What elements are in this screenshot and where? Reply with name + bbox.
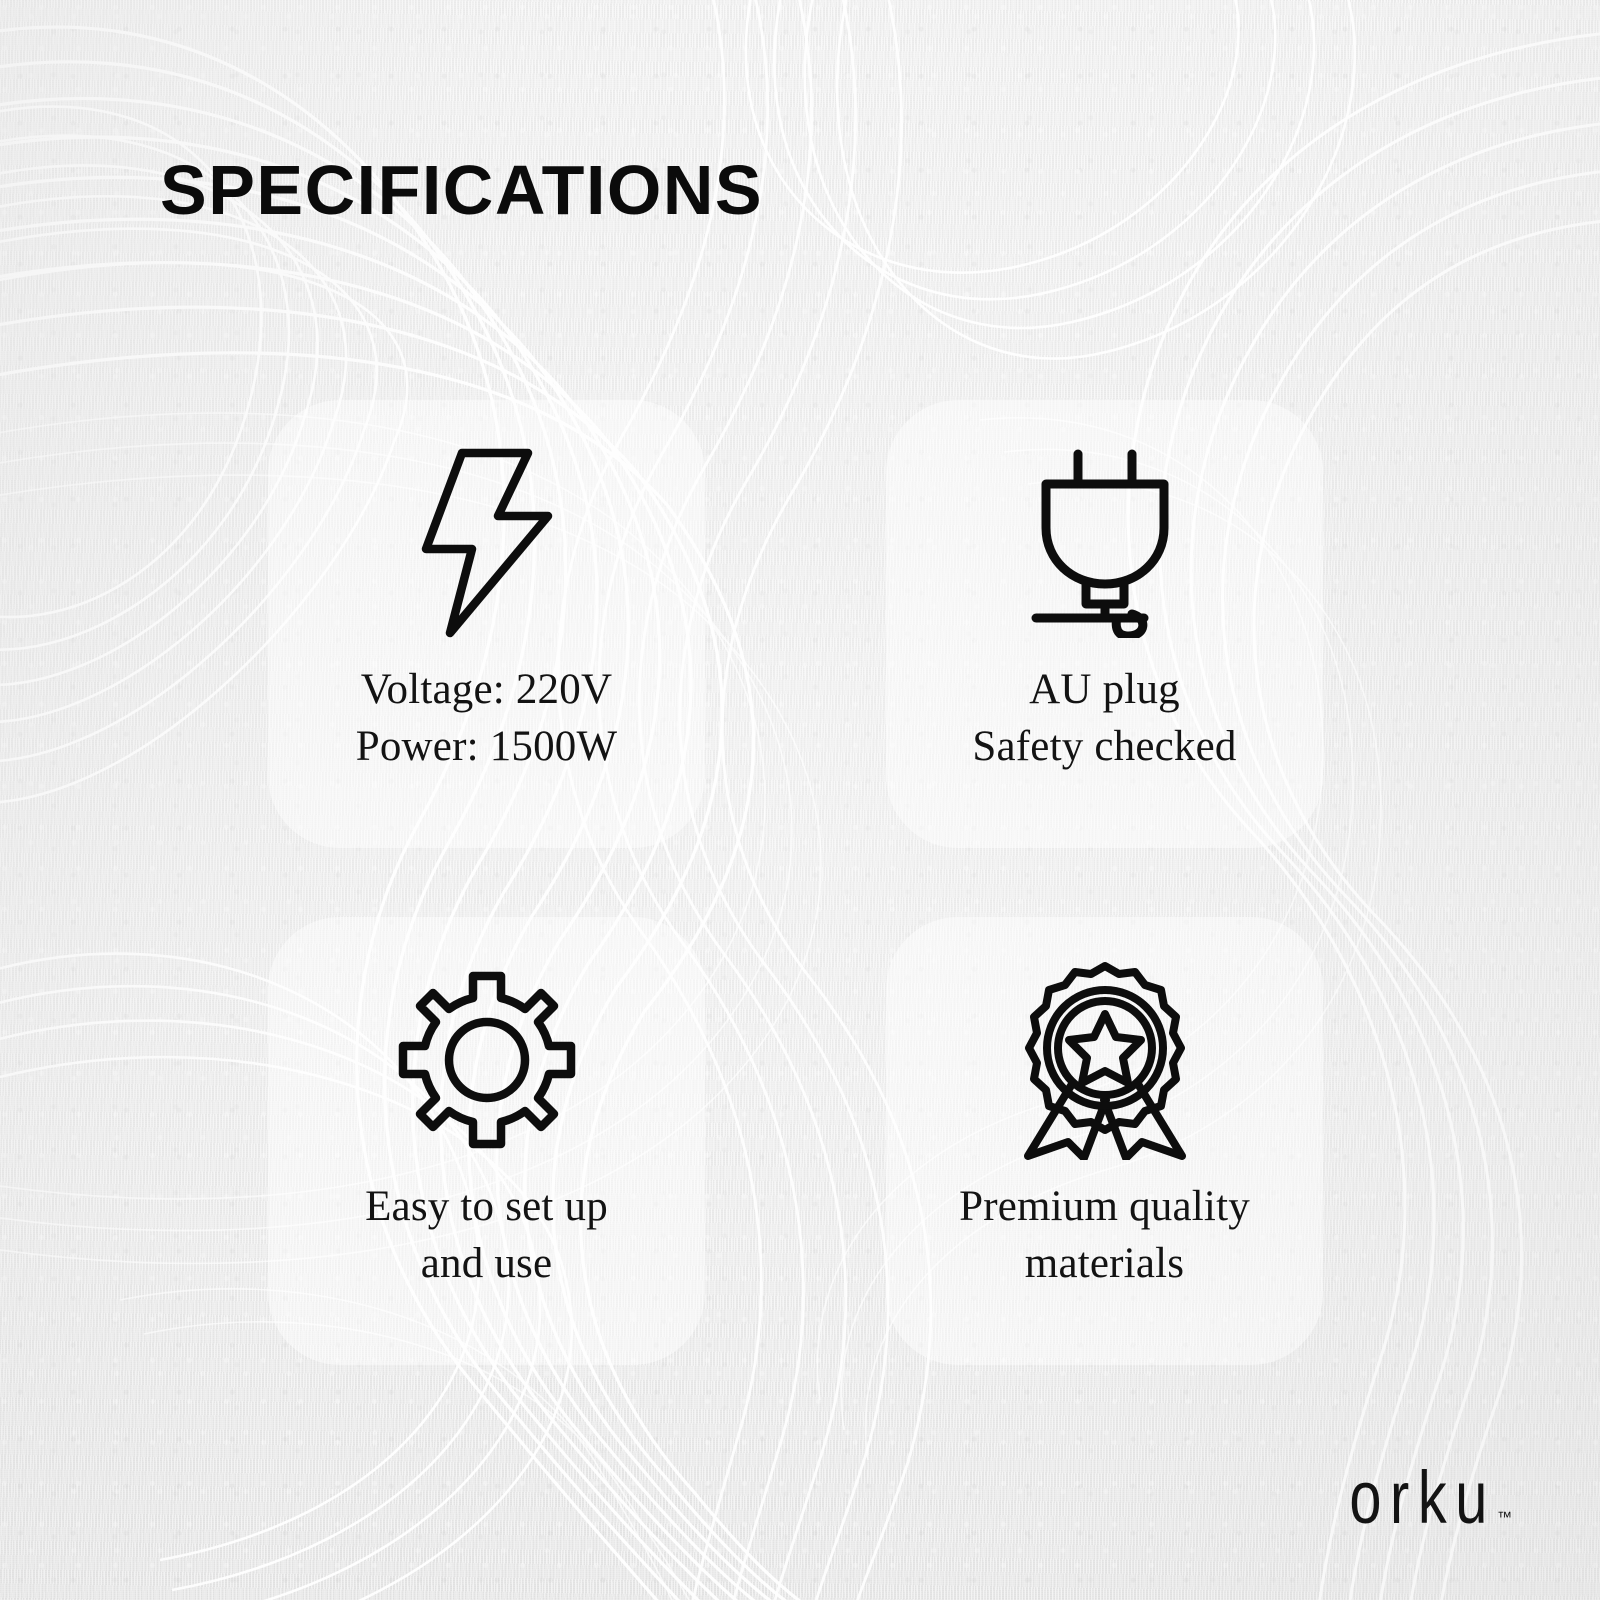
spec-line: materials: [959, 1236, 1250, 1293]
brand-logo-wordmark: orku: [1349, 1464, 1496, 1532]
spec-line: Voltage: 220V: [356, 662, 618, 719]
spec-card-quality-text: Premium quality materials: [959, 1179, 1250, 1293]
lightning-bolt-icon: [412, 438, 562, 648]
award-ribbon-icon: [1010, 955, 1200, 1165]
spec-line: Safety checked: [972, 719, 1236, 776]
spec-line: AU plug: [972, 662, 1236, 719]
spec-line: Easy to set up: [365, 1179, 608, 1236]
spec-card-grid: Voltage: 220V Power: 1500W: [268, 400, 1323, 1365]
spec-card-plug-text: AU plug Safety checked: [972, 662, 1236, 776]
spec-card-setup[interactable]: Easy to set up and use: [268, 917, 705, 1365]
spec-line: Power: 1500W: [356, 719, 618, 776]
spec-card-power[interactable]: Voltage: 220V Power: 1500W: [268, 400, 705, 848]
spec-line: Premium quality: [959, 1179, 1250, 1236]
spec-card-plug[interactable]: AU plug Safety checked: [886, 400, 1323, 848]
power-plug-icon: [1020, 438, 1190, 648]
trademark-symbol: ™: [1497, 1509, 1512, 1526]
spec-card-power-text: Voltage: 220V Power: 1500W: [356, 662, 618, 776]
page-title: SPECIFICATIONS: [160, 155, 763, 225]
spec-line: and use: [365, 1236, 608, 1293]
brand-logo: orku ™: [1308, 1464, 1512, 1532]
gear-icon: [397, 955, 577, 1165]
spec-card-setup-text: Easy to set up and use: [365, 1179, 608, 1293]
spec-card-quality[interactable]: Premium quality materials: [886, 917, 1323, 1365]
specifications-poster: SPECIFICATIONS Voltage: 220V Power: 1500…: [0, 0, 1600, 1600]
